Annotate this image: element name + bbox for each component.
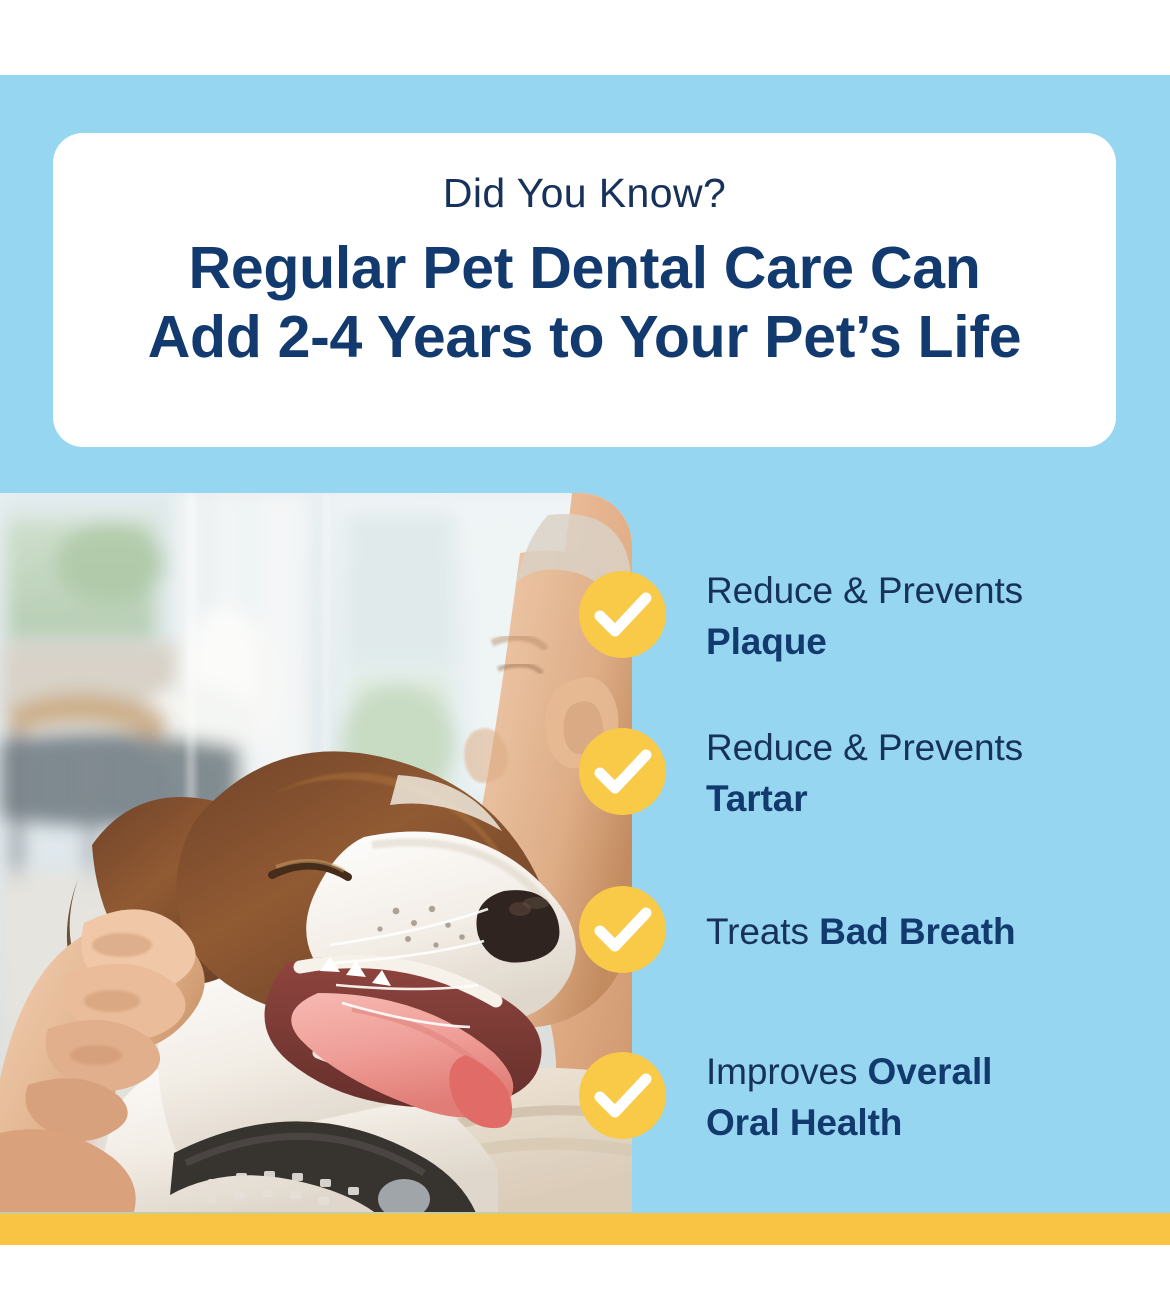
check-icon	[579, 571, 666, 658]
page-title: Regular Pet Dental Care Can Add 2-4 Year…	[148, 234, 1022, 371]
footer-accent-bar	[0, 1213, 1170, 1245]
benefit-line-1: Treats	[706, 911, 819, 952]
top-white-gutter	[0, 0, 1170, 75]
benefit-line-2: Plaque	[706, 621, 827, 662]
benefit-text: Reduce & Prevents Plaque	[706, 565, 1126, 667]
headline-card: Did You Know? Regular Pet Dental Care Ca…	[53, 133, 1116, 447]
benefit-text: Improves Overall Oral Health	[706, 1046, 1126, 1148]
benefit-line-1-emphasis: Overall	[868, 1051, 993, 1092]
benefit-text: Reduce & Prevents Tartar	[706, 722, 1126, 824]
benefit-line-2: Tartar	[706, 778, 808, 819]
benefit-line-1: Reduce & Prevents	[706, 722, 1126, 773]
check-icon	[579, 1052, 666, 1139]
infographic-canvas: Did You Know? Regular Pet Dental Care Ca…	[0, 0, 1170, 1314]
check-icon	[579, 728, 666, 815]
headline-line-2: Add 2-4 Years to Your Pet’s Life	[148, 303, 1022, 371]
bottom-white-gutter	[0, 1245, 1170, 1314]
eyebrow-text: Did You Know?	[443, 171, 726, 216]
benefit-line-1: Improves	[706, 1051, 868, 1092]
benefits-list: Reduce & Prevents Plaque Reduce & Preven…	[0, 493, 1170, 1212]
benefit-line-2: Oral Health	[706, 1102, 902, 1143]
benefit-text: Treats Bad Breath	[706, 906, 1126, 957]
check-icon	[579, 886, 666, 973]
benefit-line-1-emphasis: Bad Breath	[819, 911, 1015, 952]
benefit-line-1: Reduce & Prevents	[706, 565, 1126, 616]
headline-line-1: Regular Pet Dental Care Can	[148, 234, 1022, 302]
